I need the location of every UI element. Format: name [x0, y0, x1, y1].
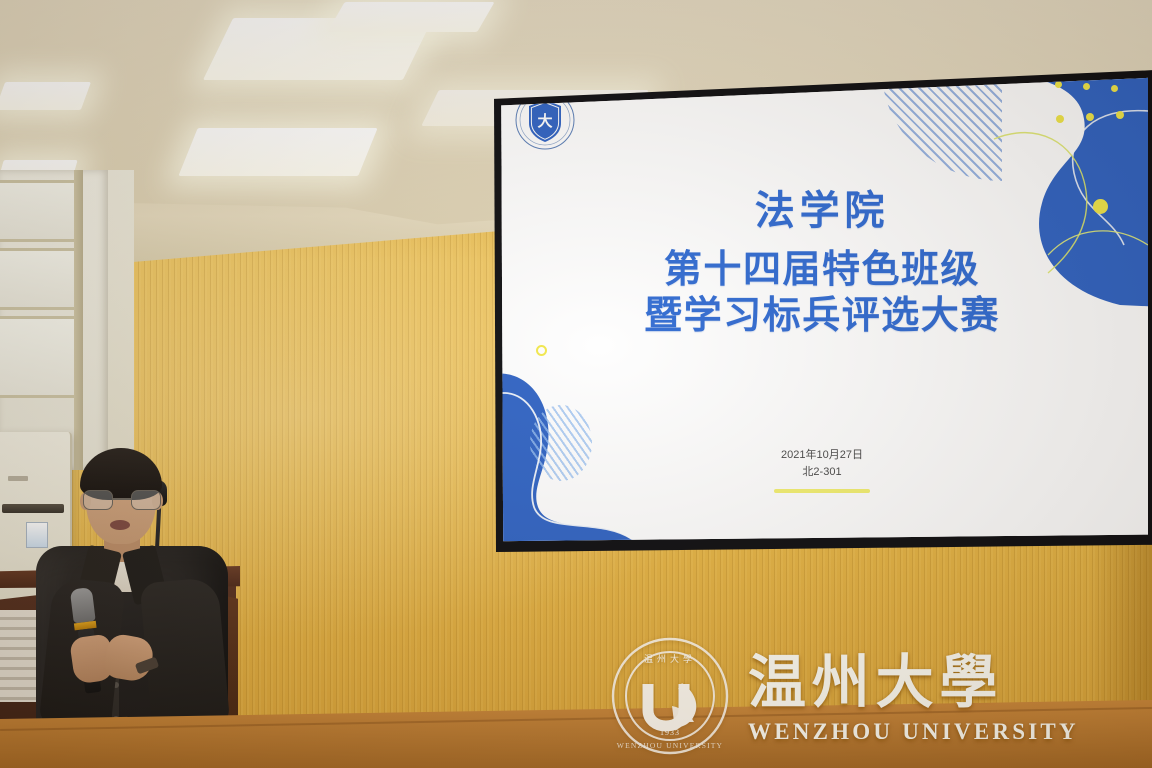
presenter-right-arm [140, 577, 231, 733]
yellow-dot [1111, 85, 1118, 92]
slide-subtitle-line-1: 第十四届特色班级 [496, 247, 1148, 293]
slide-subtitle-line-2: 暨学习标兵评选大赛 [496, 293, 1148, 339]
yellow-dot [1056, 115, 1064, 123]
wenzhou-university-seal: 1933 温州大學 WENZHOU UNIVERSITY [610, 636, 730, 756]
eyeglass-bridge [113, 498, 131, 500]
ceiling-light-panel [327, 2, 494, 32]
slide-meta-block: 2021年10月27日 北2-301 [496, 447, 1148, 481]
ceiling-light-panel [178, 128, 377, 176]
window-bay [0, 170, 108, 470]
svg-text:大: 大 [537, 112, 552, 130]
brand-name-chinese: 温州大學 [748, 654, 1152, 712]
ceiling-light-panel [0, 82, 91, 110]
yellow-accent-rule [774, 489, 870, 493]
brand-wordmark: 温州大學 WENZHOU UNIVERSITY [748, 650, 1152, 743]
eyeglasses-icon [82, 490, 162, 510]
window-pane [0, 248, 78, 310]
window-pane [0, 180, 78, 242]
eyeglass-lens [83, 490, 113, 510]
hatch-pattern-top-right [882, 77, 1002, 181]
slide-location: 北2-301 [496, 464, 1148, 481]
yellow-ring-accent [536, 345, 547, 356]
yellow-dot [1116, 111, 1124, 119]
microphone-head [70, 587, 96, 623]
slide-title-block: 法学院 第十四届特色班级 暨学习标兵评选大赛 [496, 189, 1148, 340]
presenter-mouth [110, 520, 130, 530]
svg-text:1933: 1933 [660, 728, 680, 737]
window-pane [0, 316, 78, 398]
projection-screen: 大 法学院 第十四届特色班级 暨学习标兵评选大赛 2021年10月27日 北2-… [496, 77, 1148, 543]
slide-date: 2021年10月27日 [496, 447, 1148, 464]
photograph-scene: 大 法学院 第十四届特色班级 暨学习标兵评选大赛 2021年10月27日 北2-… [0, 0, 1152, 768]
presentation-slide: 大 法学院 第十四届特色班级 暨学习标兵评选大赛 2021年10月27日 北2-… [496, 77, 1148, 543]
window-mullion [74, 170, 83, 470]
slide-title: 法学院 [496, 189, 1148, 233]
brand-name-english: WENZHOU UNIVERSITY [748, 720, 1152, 743]
svg-text:WENZHOU UNIVERSITY: WENZHOU UNIVERSITY [617, 741, 723, 750]
yellow-dot [1086, 113, 1094, 121]
yellow-dot [1055, 81, 1062, 88]
yellow-dot [1083, 83, 1090, 90]
svg-text:温州大學: 温州大學 [644, 653, 696, 664]
university-brand-lockup: 1933 温州大學 WENZHOU UNIVERSITY 温州大學 WENZHO… [610, 626, 1152, 766]
eyeglass-lens [131, 490, 161, 510]
